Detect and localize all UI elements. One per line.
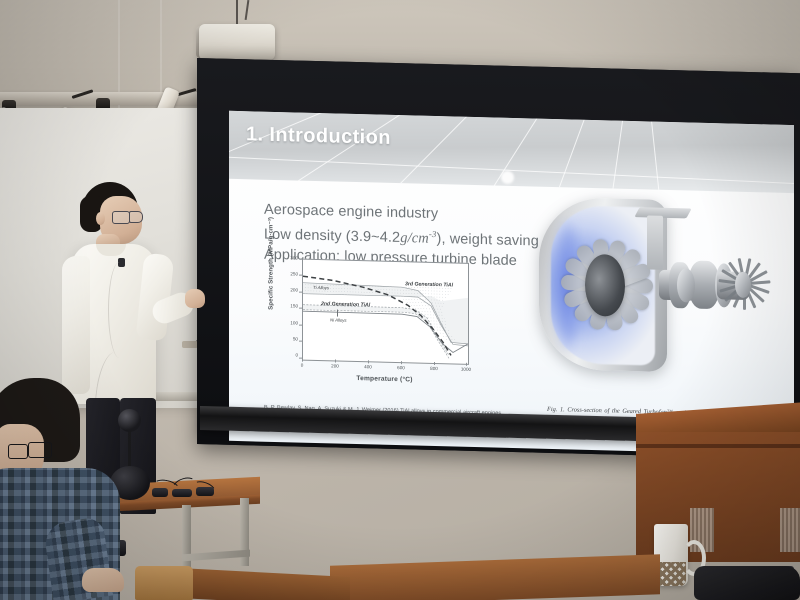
microphone-cable: [108, 262, 131, 358]
chart-x-tick: 0: [294, 362, 310, 367]
density-units: g/cm: [400, 230, 429, 247]
chart-y-axis-label: Specific Strength (MPa/g·cm⁻³): [268, 213, 275, 313]
attendee-hand: [82, 568, 124, 592]
slide-header-band: [229, 111, 794, 193]
slide-surface: 1. Introduction Aerospace engine industr…: [229, 111, 794, 455]
chart-x-tick: 400: [360, 364, 376, 369]
chart-y-tick: 50: [283, 336, 298, 341]
chart-x-tick: 600: [393, 365, 409, 370]
attendee-glasses: [28, 442, 52, 458]
chart-x-tick: 1000: [458, 367, 474, 372]
chart-y-tick: 250: [283, 271, 298, 276]
presenter-glasses: [112, 211, 130, 224]
header-decor-line: [638, 111, 660, 192]
chart-annotation-3rd-gen: 3rd Generation TiAl: [405, 281, 453, 288]
podium-vent: [780, 508, 800, 552]
turbine-hub: [735, 272, 751, 298]
attendee-glasses: [8, 444, 28, 459]
chart-annotation-ti-alloys: Ti Alloys: [313, 285, 329, 290]
screenshot-root: 1. Introduction Aerospace engine industr…: [0, 0, 800, 600]
header-decor-line: [289, 111, 505, 187]
engine-pylon: [634, 207, 691, 218]
header-decor-dot: [501, 171, 514, 184]
microphone-head: [118, 409, 141, 432]
chart-curves: [303, 260, 468, 364]
chart-y-tick: 100: [283, 320, 298, 325]
chart-plot-area: [302, 259, 469, 365]
light-track-rail: [0, 92, 230, 105]
chart-annotation-2nd-gen: 2nd Generation TiAl: [321, 301, 370, 308]
chart-y-tick: 200: [283, 287, 298, 292]
chart-leader-line: [337, 310, 338, 317]
engine-strut: [647, 215, 663, 269]
mug-pattern: [656, 562, 686, 586]
chart-y-tick: 300: [283, 255, 298, 260]
projection-screen-roller: [199, 24, 275, 60]
specific-strength-chart: Specific Strength (MPa/g·cm⁻³) Temperatu…: [255, 251, 495, 392]
chart-annotation-ni-alloys: Ni Alloys: [330, 317, 347, 322]
slide-bullet-2-tail: ), weight saving: [437, 231, 539, 250]
audio-connector: [196, 487, 214, 496]
audio-connector: [172, 489, 192, 497]
presenter-ear: [96, 212, 105, 225]
presenter-right-hand: [185, 289, 205, 308]
density-exponent: -3: [429, 229, 437, 239]
presenter-left-arm: [62, 256, 90, 394]
backpack: [694, 566, 800, 600]
chart-x-axis-label: Temperature (°C): [302, 374, 467, 385]
chart-x-tick: 800: [426, 366, 442, 371]
compressor-disc: [677, 268, 695, 302]
chair-back: [135, 566, 193, 600]
podium-trim: [636, 444, 800, 448]
chart-y-tick: 0: [283, 352, 298, 357]
whiteboard-eraser: [182, 341, 198, 348]
chart-x-tick: 200: [327, 363, 343, 368]
ceiling-wire: [236, 0, 238, 26]
slide-bullet-2-lead: Low density (3.9~4.2: [264, 227, 400, 246]
fan-spinner-hub: [585, 254, 625, 317]
presenter-glasses: [129, 211, 143, 223]
slide-title: 1. Introduction: [246, 123, 391, 150]
chart-y-tick: 150: [283, 303, 298, 308]
projection-screen: 1. Introduction Aerospace engine industr…: [197, 58, 800, 459]
audio-connector: [152, 488, 168, 497]
wall-seam: [160, 0, 162, 95]
turbofan-engine-image: [529, 178, 784, 399]
